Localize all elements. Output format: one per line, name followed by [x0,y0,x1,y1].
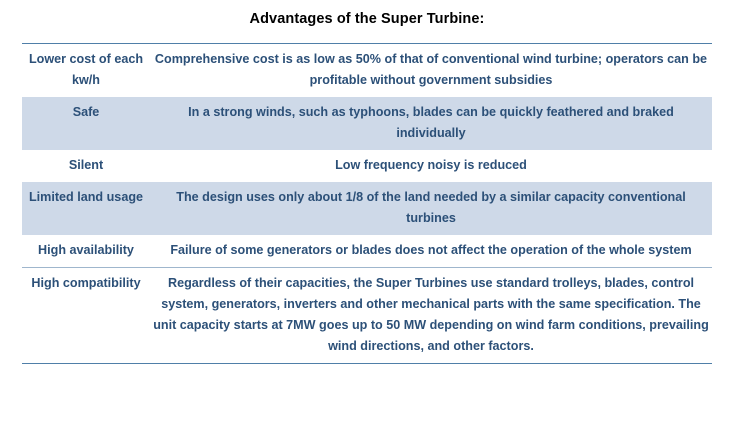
row-label: Silent [24,155,148,176]
rule-cell [150,364,712,365]
row-description: The design uses only about 1/8 of the la… [152,187,710,229]
page-title: Advantages of the Super Turbine: [0,11,734,27]
row-label: Lower cost of each kw/h [24,49,148,91]
row-description: Low frequency noisy is reduced [152,155,710,176]
row-label-cell: Silent [22,150,150,182]
table-row: Silent Low frequency noisy is reduced [22,150,712,182]
row-label: Limited land usage [24,187,148,208]
row-label-cell: Safe [22,97,150,150]
row-label-cell: Lower cost of each kw/h [22,44,150,97]
row-description-cell: The design uses only about 1/8 of the la… [150,182,712,235]
row-label: Safe [24,102,148,123]
row-description-cell: Regardless of their capacities, the Supe… [150,268,712,364]
table-row: Lower cost of each kw/h Comprehensive co… [22,44,712,97]
row-description-cell: Low frequency noisy is reduced [150,150,712,182]
row-description: In a strong winds, such as typhoons, bla… [152,102,710,144]
row-label: High availability [24,240,148,261]
table-rule-bottom [22,364,712,365]
row-label: High compatibility [24,273,148,294]
rule-cell [22,364,150,365]
table-row: High compatibility Regardless of their c… [22,268,712,364]
row-label-cell: High availability [22,235,150,268]
advantages-table-body: Lower cost of each kw/h Comprehensive co… [22,44,712,365]
table-row: High availability Failure of some genera… [22,235,712,268]
advantages-table: Lower cost of each kw/h Comprehensive co… [22,43,712,364]
table-row: Limited land usage The design uses only … [22,182,712,235]
row-description: Comprehensive cost is as low as 50% of t… [152,49,710,91]
row-description-cell: In a strong winds, such as typhoons, bla… [150,97,712,150]
table-row: Safe In a strong winds, such as typhoons… [22,97,712,150]
row-description-cell: Failure of some generators or blades doe… [150,235,712,268]
row-description: Regardless of their capacities, the Supe… [152,273,710,357]
row-description-cell: Comprehensive cost is as low as 50% of t… [150,44,712,97]
row-description: Failure of some generators or blades doe… [152,240,710,261]
page-root: Advantages of the Super Turbine: Lower c… [0,0,734,434]
row-label-cell: High compatibility [22,268,150,364]
row-label-cell: Limited land usage [22,182,150,235]
advantages-table-wrapper: Lower cost of each kw/h Comprehensive co… [22,43,712,364]
